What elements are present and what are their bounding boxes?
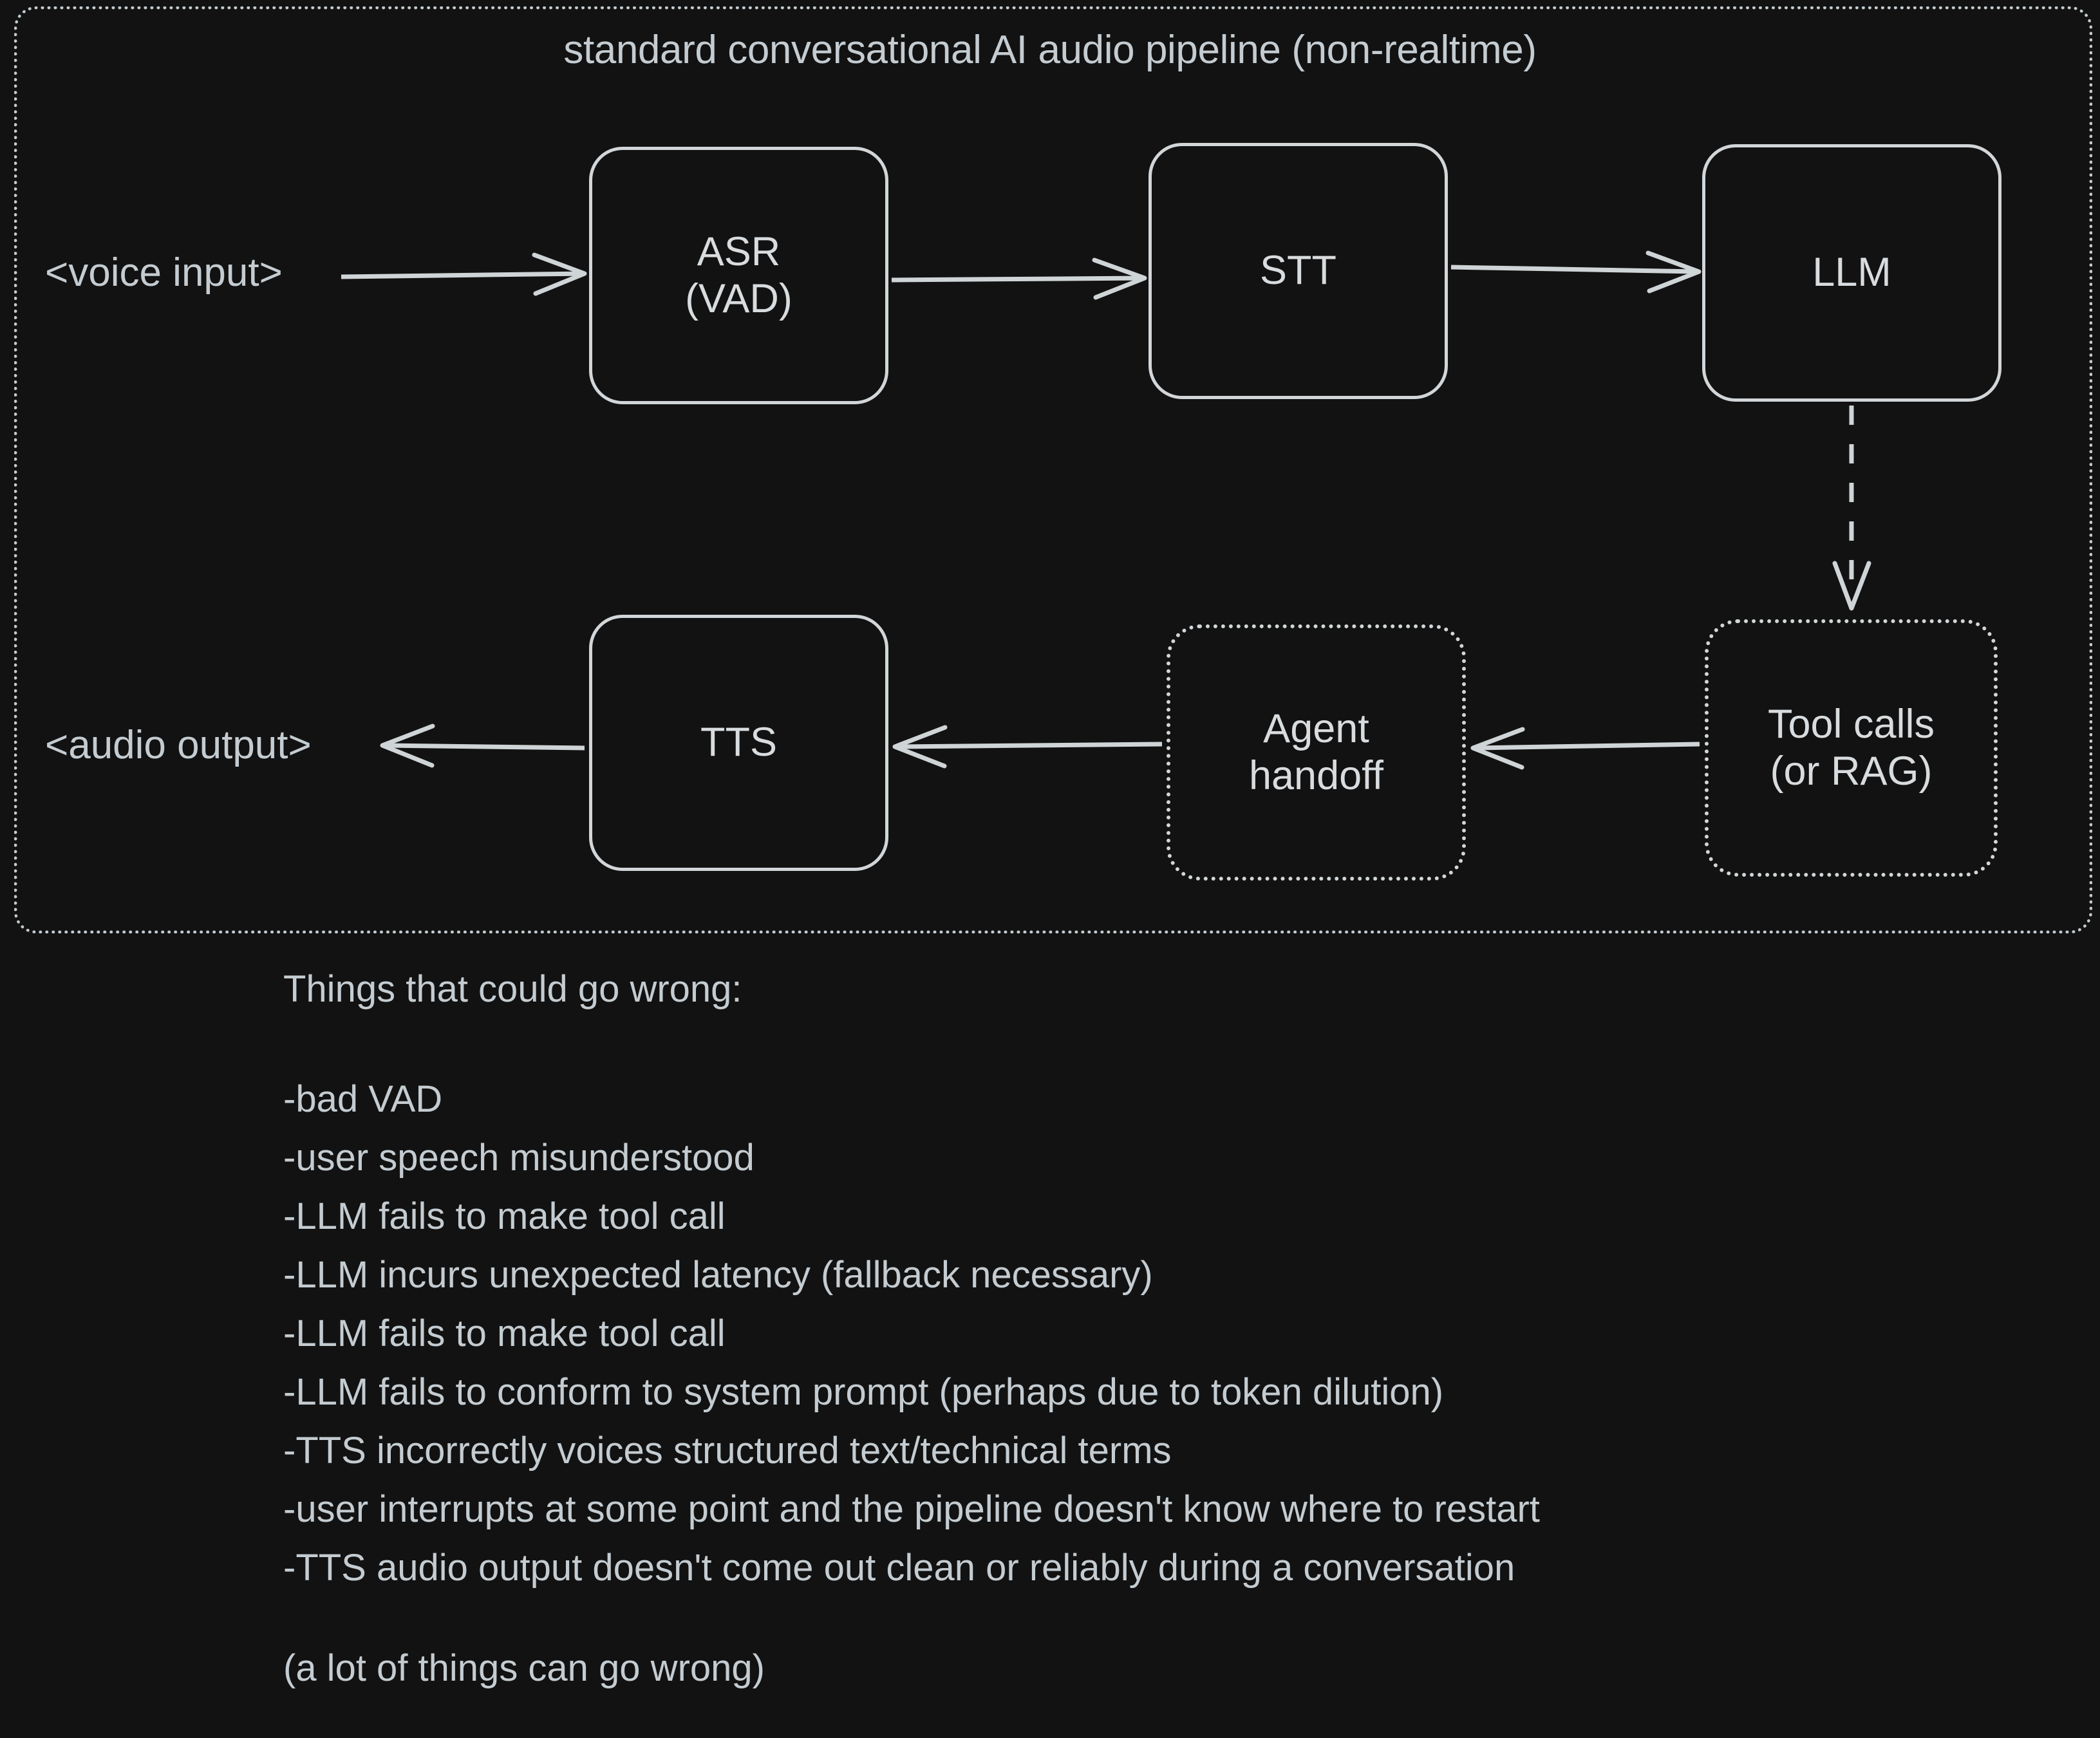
node-asr-line-1: ASR	[697, 229, 781, 276]
node-stt[interactable]: STT	[1148, 143, 1448, 399]
pipeline-panel-title: standard conversational AI audio pipelin…	[0, 27, 2100, 73]
node-agent-line-1: Agent	[1263, 705, 1369, 752]
node-stt-line-1: STT	[1260, 247, 1336, 294]
note-line: -TTS audio output doesn't come out clean…	[283, 1538, 2021, 1597]
notes-section: Things that could go wrong: -bad VAD-use…	[283, 971, 2021, 1687]
note-line: -user interrupts at some point and the p…	[283, 1480, 2021, 1538]
notes-heading: Things that could go wrong:	[283, 971, 2021, 1008]
note-line: -LLM fails to make tool call	[283, 1304, 2021, 1363]
node-llm-line-1: LLM	[1812, 249, 1891, 296]
node-agent-line-2: handoff	[1249, 752, 1383, 799]
notes-footer: (a lot of things can go wrong)	[283, 1650, 2021, 1687]
note-line: -LLM fails to conform to system prompt (…	[283, 1363, 2021, 1421]
note-line: -bad VAD	[283, 1070, 2021, 1128]
diagram-canvas: standard conversational AI audio pipelin…	[0, 0, 2100, 1738]
node-tts[interactable]: TTS	[589, 615, 888, 871]
node-asr-line-2: (VAD)	[685, 276, 792, 322]
node-llm[interactable]: LLM	[1702, 144, 2002, 402]
note-line: -LLM fails to make tool call	[283, 1187, 2021, 1246]
notes-list: -bad VAD-user speech misunderstood-LLM f…	[283, 1070, 2021, 1597]
node-tts-line-1: TTS	[700, 719, 777, 766]
node-asr[interactable]: ASR (VAD)	[589, 147, 888, 404]
node-tool-calls[interactable]: Tool calls (or RAG)	[1705, 619, 1998, 877]
node-tool-line-2: (or RAG)	[1770, 748, 1933, 795]
label-audio-output: <audio output>	[45, 722, 312, 768]
note-line: -LLM incurs unexpected latency (fallback…	[283, 1246, 2021, 1304]
node-agent-handoff[interactable]: Agent handoff	[1167, 624, 1466, 881]
label-voice-input: <voice input>	[45, 250, 283, 295]
note-line: -user speech misunderstood	[283, 1128, 2021, 1187]
note-line: -TTS incorrectly voices structured text/…	[283, 1421, 2021, 1480]
node-tool-line-1: Tool calls	[1768, 701, 1935, 748]
